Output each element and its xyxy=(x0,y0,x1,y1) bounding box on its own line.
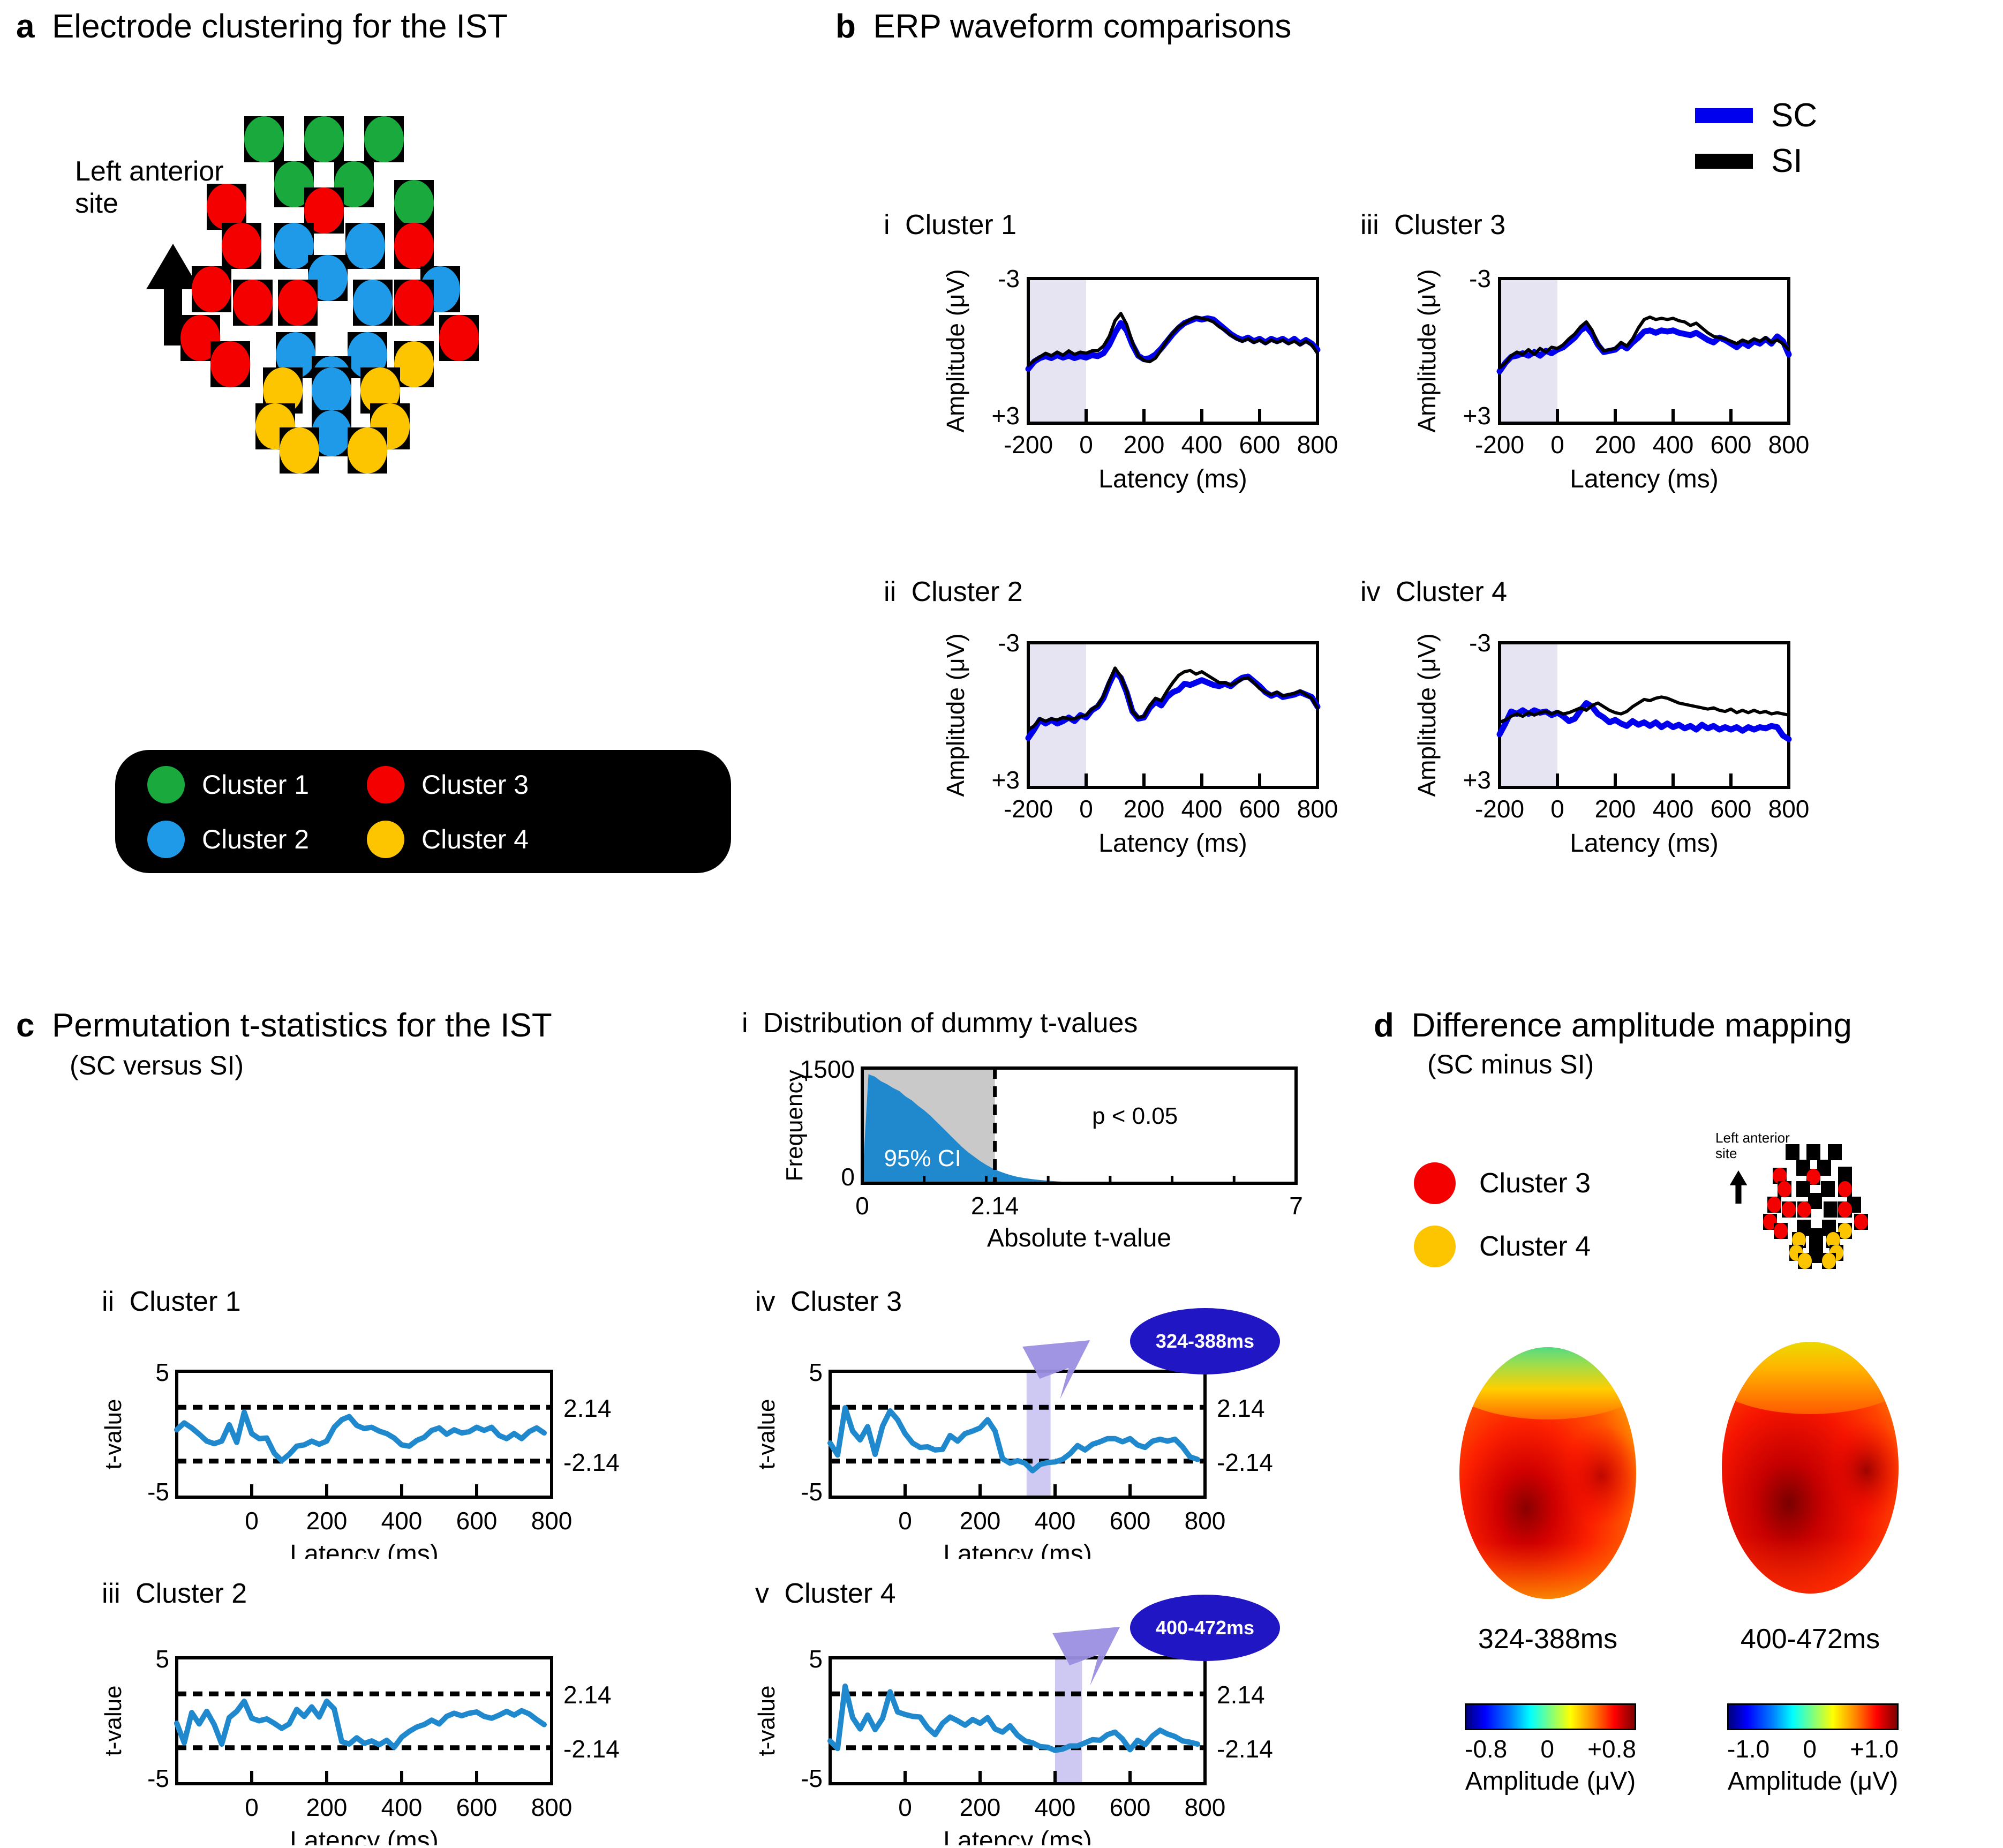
electrode xyxy=(394,223,434,269)
electrode-dot-icon xyxy=(1782,1201,1796,1218)
electrode xyxy=(1767,1197,1781,1213)
tvalue-xtick: 600 xyxy=(1110,1793,1151,1821)
erp-xtick: 400 xyxy=(1653,795,1694,823)
electrode xyxy=(1809,1232,1823,1248)
electrode xyxy=(1797,1201,1811,1218)
electrode-dot-icon xyxy=(210,341,250,387)
tvalue-xtick: 800 xyxy=(1185,1793,1226,1821)
electrode-dot-icon xyxy=(1786,1144,1799,1160)
sc-line-swatch xyxy=(1695,108,1753,123)
tvalue-xlabel: Latency (ms) xyxy=(943,1827,1091,1845)
erp-axes: -3+3Amplitude (μV)-2000200400600800Laten… xyxy=(1339,627,1821,873)
electrode xyxy=(192,266,231,312)
panel-a-letter: a xyxy=(16,8,34,45)
electrode-dot-icon xyxy=(280,427,319,474)
erp-xtick: 0 xyxy=(1550,795,1564,823)
panel-d-letter: d xyxy=(1374,1007,1394,1044)
histogram-xtick-214: 2.14 xyxy=(971,1192,1019,1220)
tvalue-ybottom-tick: -5 xyxy=(801,1764,823,1792)
panel-b-ii-numeral: ii xyxy=(884,576,896,607)
electrode xyxy=(439,315,479,361)
topographic-map xyxy=(1441,1339,1655,1612)
topomap-caption-0: 324-388ms xyxy=(1441,1623,1655,1655)
panel-c-v-numeral: v xyxy=(755,1578,769,1609)
tvalue-xlabel: Latency (ms) xyxy=(290,1540,438,1559)
colorbar-gradient xyxy=(1465,1703,1636,1730)
electrode-dot-icon xyxy=(192,266,231,312)
electrode xyxy=(222,223,261,269)
erp-xlabel: Latency (ms) xyxy=(1570,465,1718,493)
legend-entry-sc: SC xyxy=(1695,96,1817,134)
legend-entry-cluster-2: Cluster 2 xyxy=(147,821,309,858)
significance-window-bubble: 324-388ms xyxy=(1130,1308,1280,1374)
electrode-dot-icon xyxy=(353,280,393,326)
panel-c-iii-title: Cluster 2 xyxy=(135,1578,247,1609)
tvalue-xtick: 800 xyxy=(531,1507,573,1535)
tvalue-ytop-tick: 5 xyxy=(155,1645,169,1673)
tvalue-ybottom-tick: -5 xyxy=(801,1478,823,1506)
tvalue-xtick: 600 xyxy=(1110,1507,1151,1535)
histogram-ybottom-tick: 0 xyxy=(841,1163,855,1191)
erp-xtick: 800 xyxy=(1297,795,1338,823)
tvalue-xtick: 800 xyxy=(531,1793,573,1821)
erp-ytop-tick: -3 xyxy=(998,265,1020,292)
histogram-xtick-0: 0 xyxy=(855,1192,869,1220)
panel-c-subtitle: (SC versus SI) xyxy=(70,1050,552,1080)
electrode-dot-icon xyxy=(348,427,387,474)
electrode xyxy=(1822,1253,1836,1269)
tvalue-plot-cluster-2: 5-52.14-2.14t-value0200400600800Latency … xyxy=(70,1620,718,1845)
anterior-arrow-icon-d xyxy=(1729,1170,1748,1204)
si-line-swatch xyxy=(1695,154,1753,169)
tvalue-ylabel: t-value xyxy=(100,1399,126,1469)
erp-xlabel: Latency (ms) xyxy=(1098,829,1247,858)
tvalue-threshold-neg-label: -2.14 xyxy=(563,1735,620,1763)
cluster-dot-icon xyxy=(147,821,185,858)
electrode xyxy=(304,116,344,162)
electrode xyxy=(1821,1181,1835,1197)
panel-c-ii-title: Cluster 1 xyxy=(130,1286,241,1317)
electrode-dot-icon xyxy=(394,280,434,326)
erp-plot-cluster-4: -3+3Amplitude (μV)-2000200400600800Laten… xyxy=(1339,627,1821,873)
tvalue-ybottom-tick: -5 xyxy=(147,1478,169,1506)
erp-xtick: 600 xyxy=(1239,431,1281,459)
erp-xtick: 0 xyxy=(1079,795,1093,823)
tvalue-xtick: 400 xyxy=(1035,1507,1076,1535)
electrode-dot-icon xyxy=(1838,1201,1852,1218)
erp-xtick: 400 xyxy=(1653,431,1694,459)
electrode-dot-icon xyxy=(304,116,344,162)
tvalue-threshold-pos-label: 2.14 xyxy=(1217,1394,1265,1422)
electrode xyxy=(394,180,434,226)
panel-a-header: a Electrode clustering for the IST xyxy=(16,8,508,45)
erp-xtick: 200 xyxy=(1595,795,1636,823)
electrode xyxy=(210,341,250,387)
cluster-3-dot-icon xyxy=(1414,1162,1456,1204)
electrode xyxy=(1838,1181,1852,1197)
tvalue-xtick: 200 xyxy=(306,1793,348,1821)
erp-xtick: 0 xyxy=(1079,431,1093,459)
electrode xyxy=(280,427,319,474)
erp-ylabel: Amplitude (μV) xyxy=(942,633,969,797)
histogram-ylabel: Frequency xyxy=(781,1070,808,1182)
electrode-dot-icon xyxy=(439,315,479,361)
electrode xyxy=(244,116,284,162)
electrode-dot-icon xyxy=(1838,1167,1852,1183)
tvalue-xtick: 200 xyxy=(306,1507,348,1535)
electrode xyxy=(233,280,273,326)
histogram-p-annotation: p < 0.05 xyxy=(1092,1103,1178,1129)
electrode xyxy=(1778,1181,1791,1197)
electrode-dot-icon xyxy=(312,367,351,414)
colorbar-0-max: +0.8 xyxy=(1587,1734,1636,1763)
erp-ybottom-tick: +3 xyxy=(992,766,1020,794)
erp-ytop-tick: -3 xyxy=(1469,629,1491,657)
panel-c-ii-numeral: ii xyxy=(102,1286,114,1317)
electrode-dot-icon xyxy=(1821,1181,1835,1197)
cluster-legend-a: Cluster 1Cluster 2Cluster 3Cluster 4 xyxy=(115,750,731,873)
erp-xtick: 200 xyxy=(1124,795,1165,823)
tvalue-ylabel: t-value xyxy=(754,1399,780,1469)
electrode xyxy=(1838,1201,1852,1218)
electrode xyxy=(1838,1167,1852,1183)
significance-band xyxy=(1027,1371,1051,1497)
electrode-dot-icon xyxy=(345,223,385,269)
colorbar-1-min: -1.0 xyxy=(1727,1734,1769,1763)
tvalue-xtick: 400 xyxy=(381,1793,423,1821)
tvalue-plot-cluster-3: 5-52.14-2.14t-value0200400600800Latency … xyxy=(723,1334,1371,1559)
panel-b-iii-title: Cluster 3 xyxy=(1394,209,1505,241)
tvalue-threshold-neg-label: -2.14 xyxy=(563,1448,620,1476)
histogram-axes: 15000Frequency02.147Absolute t-value95% … xyxy=(723,1050,1355,1275)
panel-d-title: Difference amplitude mapping xyxy=(1411,1007,1852,1044)
electrode-dot-icon xyxy=(1774,1223,1788,1239)
erp-axes: -3+3Amplitude (μV)-2000200400600800Laten… xyxy=(868,627,1350,873)
colorbar-gradient xyxy=(1727,1703,1899,1730)
panel-c-iii-label: iii Cluster 2 xyxy=(102,1577,247,1610)
cluster-dot-icon xyxy=(147,766,185,803)
panel-b-i-numeral: i xyxy=(884,209,890,241)
electrode-dot-icon xyxy=(394,180,434,226)
panel-b-iv-title: Cluster 4 xyxy=(1396,576,1507,607)
erp-xlabel: Latency (ms) xyxy=(1098,465,1247,493)
panel-b-i-label: i Cluster 1 xyxy=(884,209,1016,241)
cluster-3-legend-label: Cluster 3 xyxy=(1479,1167,1591,1199)
electrode-dot-icon xyxy=(1778,1181,1791,1197)
electrode-dot-icon xyxy=(233,280,273,326)
tvalue-xtick: 600 xyxy=(456,1507,498,1535)
electrode xyxy=(345,223,385,269)
electrode xyxy=(312,367,351,414)
significance-band xyxy=(1055,1658,1082,1784)
electrode-dot-icon xyxy=(1824,1201,1838,1218)
topographic-map xyxy=(1703,1334,1917,1607)
panel-d-header: d Difference amplitude mapping (SC minus… xyxy=(1374,1007,1852,1079)
erp-xtick: 400 xyxy=(1181,431,1223,459)
cluster-dot-icon xyxy=(367,766,404,803)
tvalue-xtick: 0 xyxy=(898,1793,912,1821)
panel-b-iii-numeral: iii xyxy=(1360,209,1379,241)
sc-legend-label: SC xyxy=(1771,96,1817,134)
electrode-dot-icon xyxy=(1806,1144,1820,1160)
panel-b-i-title: Cluster 1 xyxy=(905,209,1016,241)
topomap-324-388ms xyxy=(1441,1339,1655,1612)
erp-xtick: 800 xyxy=(1768,431,1810,459)
tvalue-xtick: 200 xyxy=(960,1793,1001,1821)
panel-b-ii-title: Cluster 2 xyxy=(912,576,1023,607)
tvalue-series xyxy=(177,1412,544,1460)
tvalue-xtick: 800 xyxy=(1185,1507,1226,1535)
electrode xyxy=(364,116,404,162)
erp-axes: -3+3Amplitude (μV)-2000200400600800Laten… xyxy=(1339,262,1821,509)
tvalue-ytop-tick: 5 xyxy=(809,1358,823,1386)
erp-xtick: 0 xyxy=(1550,431,1564,459)
dummy-tvalue-histogram: 15000Frequency02.147Absolute t-value95% … xyxy=(723,1050,1355,1275)
tvalue-xlabel: Latency (ms) xyxy=(943,1540,1091,1559)
panel-c-iv-numeral: iv xyxy=(755,1286,775,1317)
erp-xtick: -200 xyxy=(1475,431,1524,459)
electrode-dot-icon xyxy=(1797,1201,1811,1218)
electrode-dot-icon xyxy=(278,280,318,326)
electrode xyxy=(1854,1214,1868,1230)
tvalue-ytop-tick: 5 xyxy=(155,1358,169,1386)
colorbar-1-label: Amplitude (μV) xyxy=(1727,1767,1899,1796)
electrode xyxy=(353,280,393,326)
tvalue-ylabel: t-value xyxy=(754,1685,780,1756)
tvalue-threshold-pos-label: 2.14 xyxy=(563,1394,612,1422)
tvalue-xtick: 0 xyxy=(245,1507,259,1535)
tvalue-axes: 5-52.14-2.14t-value0200400600800Latency … xyxy=(70,1334,718,1559)
panel-c-iii-numeral: iii xyxy=(102,1578,121,1609)
electrode xyxy=(1828,1144,1842,1160)
panel-c-letter: c xyxy=(16,1007,34,1044)
tvalue-xtick: 0 xyxy=(898,1507,912,1535)
electrode xyxy=(1774,1223,1788,1239)
tvalue-axes: 5-52.14-2.14t-value0200400600800Latency … xyxy=(723,1334,1371,1559)
electrode-dot-icon xyxy=(394,223,434,269)
electrode-dot-icon xyxy=(1822,1253,1836,1269)
cluster-4-legend-label: Cluster 4 xyxy=(1479,1230,1591,1263)
panel-c-i-label: i Distribution of dummy t-values xyxy=(742,1007,1138,1039)
electrode xyxy=(1806,1144,1820,1160)
panel-d-subtitle: (SC minus SI) xyxy=(1427,1049,1852,1079)
legend-label: Cluster 1 xyxy=(202,769,309,800)
electrode-dot-icon xyxy=(1767,1197,1781,1213)
legend-entry-cluster-4: Cluster 4 xyxy=(367,821,529,858)
erp-xtick: 400 xyxy=(1181,795,1223,823)
electrode xyxy=(1782,1201,1796,1218)
colorbar-1: -1.0 0 +1.0 Amplitude (μV) xyxy=(1727,1703,1899,1796)
topomap-400-472ms xyxy=(1703,1334,1917,1612)
erp-xtick: 800 xyxy=(1297,431,1338,459)
electrode xyxy=(1824,1201,1838,1218)
si-legend-label: SI xyxy=(1771,142,1803,180)
histogram-xtick-7: 7 xyxy=(1289,1192,1303,1220)
erp-ybottom-tick: +3 xyxy=(1463,766,1491,794)
legend-label: Cluster 4 xyxy=(421,824,529,855)
panel-c-v-title: Cluster 4 xyxy=(784,1578,895,1609)
electrode-dot-icon xyxy=(1838,1181,1852,1197)
erp-xtick: -200 xyxy=(1475,795,1524,823)
erp-xlabel: Latency (ms) xyxy=(1570,829,1718,858)
electrode-dot-icon xyxy=(1828,1144,1842,1160)
legend-label: Cluster 2 xyxy=(202,824,309,855)
electrode xyxy=(278,280,318,326)
tvalue-ylabel: t-value xyxy=(100,1685,126,1756)
electrode-dot-icon xyxy=(394,341,434,387)
histogram-ci-annotation: 95% CI xyxy=(884,1145,961,1171)
erp-plot-cluster-3: -3+3Amplitude (μV)-2000200400600800Laten… xyxy=(1339,262,1821,509)
colorbar-1-max: +1.0 xyxy=(1850,1734,1899,1763)
electrode-dot-icon xyxy=(1854,1214,1868,1230)
erp-xtick: 600 xyxy=(1711,431,1752,459)
panel-c-title: Permutation t-statistics for the IST xyxy=(52,1007,552,1044)
erp-xtick: 600 xyxy=(1239,795,1281,823)
tvalue-plot-cluster-1: 5-52.14-2.14t-value0200400600800Latency … xyxy=(70,1334,718,1559)
legend-entry-si: SI xyxy=(1695,142,1817,180)
tvalue-plot-cluster-4: 5-52.14-2.14t-value0200400600800Latency … xyxy=(723,1620,1371,1845)
erp-xtick: -200 xyxy=(1004,431,1053,459)
tvalue-series xyxy=(177,1701,544,1747)
panel-c-iv-label: iv Cluster 3 xyxy=(755,1286,902,1318)
panel-b-iii-label: iii Cluster 3 xyxy=(1360,209,1505,241)
erp-xtick: 200 xyxy=(1595,431,1636,459)
tvalue-xtick: 400 xyxy=(381,1507,423,1535)
sc-si-legend: SC SI xyxy=(1695,96,1817,180)
cluster-dot-icon xyxy=(367,821,404,858)
panel-b-title: ERP waveform comparisons xyxy=(873,8,1291,45)
panel-c-i-title: Distribution of dummy t-values xyxy=(763,1008,1138,1039)
erp-xtick: 800 xyxy=(1768,795,1810,823)
erp-xtick: -200 xyxy=(1004,795,1053,823)
tvalue-xtick: 0 xyxy=(245,1793,259,1821)
colorbar-0-min: -0.8 xyxy=(1465,1734,1507,1763)
tvalue-xtick: 200 xyxy=(960,1507,1001,1535)
panel-c-iv-title: Cluster 3 xyxy=(790,1286,902,1317)
erp-axes: -3+3Amplitude (μV)-2000200400600800Laten… xyxy=(868,262,1350,509)
panel-b-ii-label: ii Cluster 2 xyxy=(884,576,1023,608)
tvalue-threshold-neg-label: -2.14 xyxy=(1217,1735,1273,1763)
panel-b-iv-label: iv Cluster 4 xyxy=(1360,576,1507,608)
erp-plot-cluster-1: -3+3Amplitude (μV)-2000200400600800Laten… xyxy=(868,262,1350,509)
panel-b-iv-numeral: iv xyxy=(1360,576,1381,607)
legend-label: Cluster 3 xyxy=(421,769,529,800)
erp-xtick: 600 xyxy=(1711,795,1752,823)
erp-ybottom-tick: +3 xyxy=(992,402,1020,430)
tvalue-threshold-pos-label: 2.14 xyxy=(1217,1681,1265,1709)
tvalue-ybottom-tick: -5 xyxy=(147,1764,169,1792)
legend-entry-cluster-4: Cluster 4 xyxy=(1414,1226,1591,1267)
legend-entry-cluster-3: Cluster 3 xyxy=(1414,1162,1591,1204)
erp-xtick: 200 xyxy=(1124,431,1165,459)
legend-entry-cluster-1: Cluster 1 xyxy=(147,766,309,803)
legend-entry-cluster-3: Cluster 3 xyxy=(367,766,529,803)
significance-window-bubble: 400-472ms xyxy=(1130,1595,1280,1661)
histogram-xlabel: Absolute t-value xyxy=(987,1224,1171,1252)
tvalue-xtick: 600 xyxy=(456,1793,498,1821)
tvalue-xlabel: Latency (ms) xyxy=(290,1827,438,1845)
electrode xyxy=(1786,1144,1799,1160)
erp-ylabel: Amplitude (μV) xyxy=(1413,269,1441,432)
erp-ylabel: Amplitude (μV) xyxy=(1413,633,1441,797)
panel-c-i-numeral: i xyxy=(742,1008,748,1039)
panel-c-ii-label: ii Cluster 1 xyxy=(102,1286,241,1318)
topomap-caption-1: 400-472ms xyxy=(1703,1623,1917,1655)
tvalue-xtick: 400 xyxy=(1035,1793,1076,1821)
tvalue-threshold-neg-label: -2.14 xyxy=(1217,1448,1273,1476)
erp-ybottom-tick: +3 xyxy=(1463,402,1491,430)
panel-a-title: Electrode clustering for the IST xyxy=(52,8,508,45)
panel-b-letter: b xyxy=(835,8,856,45)
cluster-legend-d: Cluster 3 Cluster 4 xyxy=(1414,1162,1591,1267)
electrode xyxy=(394,341,434,387)
cluster-4-dot-icon xyxy=(1414,1226,1456,1267)
electrode xyxy=(1798,1253,1812,1269)
electrode-grid-d xyxy=(1762,1141,1878,1257)
tvalue-threshold-pos-label: 2.14 xyxy=(563,1681,612,1709)
colorbar-1-mid: 0 xyxy=(1803,1734,1817,1763)
electrode-dot-icon xyxy=(1798,1253,1812,1269)
electrode-dot-icon xyxy=(1809,1232,1823,1248)
tvalue-axes: 5-52.14-2.14t-value0200400600800Latency … xyxy=(70,1620,718,1845)
erp-ytop-tick: -3 xyxy=(998,629,1020,657)
panel-c-v-label: v Cluster 4 xyxy=(755,1577,896,1610)
tvalue-axes: 5-52.14-2.14t-value0200400600800Latency … xyxy=(723,1620,1371,1845)
electrode-dot-icon xyxy=(244,116,284,162)
electrode-dot-icon xyxy=(222,223,261,269)
panel-b-header: b ERP waveform comparisons xyxy=(835,8,1291,45)
colorbar-0: -0.8 0 +0.8 Amplitude (μV) xyxy=(1465,1703,1636,1796)
panel-c-header: c Permutation t-statistics for the IST (… xyxy=(16,1007,552,1080)
electrode xyxy=(348,427,387,474)
electrode-dot-icon xyxy=(364,116,404,162)
erp-ytop-tick: -3 xyxy=(1469,265,1491,292)
electrode-grid-a xyxy=(177,107,509,439)
colorbar-0-label: Amplitude (μV) xyxy=(1465,1767,1636,1796)
erp-plot-cluster-2: -3+3Amplitude (μV)-2000200400600800Laten… xyxy=(868,627,1350,873)
histogram-ytop-tick: 1500 xyxy=(800,1055,855,1083)
colorbar-0-mid: 0 xyxy=(1540,1734,1554,1763)
electrode xyxy=(394,280,434,326)
erp-ylabel: Amplitude (μV) xyxy=(942,269,969,432)
tvalue-ytop-tick: 5 xyxy=(809,1645,823,1673)
